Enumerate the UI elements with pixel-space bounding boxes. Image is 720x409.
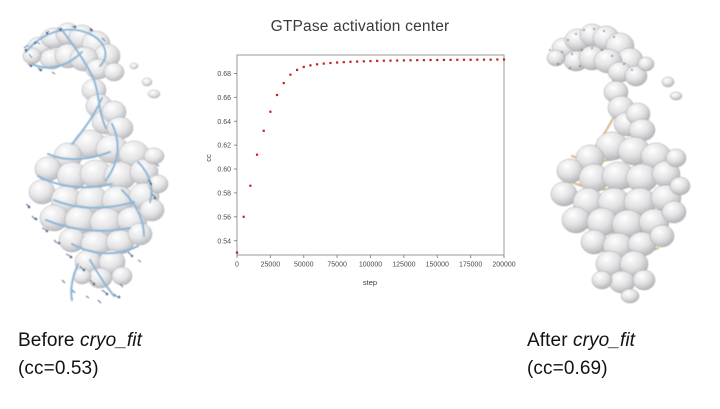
data-point: [383, 60, 385, 62]
data-point: [303, 66, 305, 68]
data-point: [349, 61, 351, 63]
data-point: [470, 59, 472, 61]
caption-before-cc: (cc=0.53): [18, 355, 142, 383]
data-point: [329, 62, 331, 64]
y-tick-label: 0.56: [217, 214, 231, 221]
caption-before-text: Before: [18, 330, 80, 351]
data-point: [249, 185, 251, 187]
caption-after-cc: (cc=0.69): [527, 355, 635, 383]
data-point: [416, 59, 418, 61]
data-point: [236, 252, 238, 254]
data-point: [256, 154, 258, 156]
x-axis-ticks: 0250005000075000100000125000150000175000…: [235, 255, 516, 269]
data-point: [443, 59, 445, 61]
data-point: [289, 74, 291, 76]
data-point: [316, 63, 318, 65]
y-tick-label: 0.60: [217, 167, 231, 174]
data-point: [483, 59, 485, 61]
cryo-em-density-after-svg: [520, 4, 720, 316]
x-tick-label: 75000: [327, 262, 347, 269]
caption-after-emphasis: cryo_fit: [573, 330, 635, 351]
x-tick-label: 175000: [459, 262, 482, 269]
data-point: [423, 59, 425, 61]
structure-image-before: [2, 4, 202, 316]
y-tick-label: 0.62: [217, 143, 231, 150]
data-point: [496, 58, 498, 60]
y-tick-label: 0.58: [217, 191, 231, 198]
caption-before: Before cryo_fit (cc=0.53): [18, 327, 142, 383]
density-blobs-before: [23, 23, 168, 303]
x-tick-label: 50000: [294, 262, 314, 269]
data-point: [363, 60, 365, 62]
data-point: [409, 59, 411, 61]
data-point: [403, 59, 405, 61]
data-point: [376, 60, 378, 62]
data-point: [456, 59, 458, 61]
caption-after: After cryo_fit (cc=0.69): [527, 327, 635, 383]
data-point: [243, 216, 245, 218]
data-point: [343, 61, 345, 63]
cryo-em-density-before-svg: [2, 4, 202, 316]
data-point: [503, 58, 505, 60]
structure-image-after: [520, 4, 720, 316]
data-point: [296, 69, 298, 71]
data-point: [396, 59, 398, 61]
plot-frame: [237, 55, 504, 255]
chart-plot-area: 0.540.560.580.600.620.640.660.68 0250005…: [200, 0, 520, 305]
y-tick-label: 0.66: [217, 95, 231, 102]
data-point: [309, 64, 311, 66]
y-tick-label: 0.54: [217, 238, 231, 245]
x-tick-label: 125000: [392, 262, 415, 269]
data-point: [476, 59, 478, 61]
data-point: [369, 60, 371, 62]
x-tick-label: 25000: [261, 262, 281, 269]
data-point: [323, 62, 325, 64]
caption-after-text: After: [527, 330, 573, 351]
caption-before-emphasis: cryo_fit: [80, 330, 142, 351]
data-point: [276, 94, 278, 96]
data-point: [389, 60, 391, 62]
cc-vs-step-chart: GTPase activation center 0.540.560.580.6…: [200, 0, 520, 305]
data-point: [263, 130, 265, 132]
y-tick-label: 0.68: [217, 71, 231, 78]
x-tick-label: 200000: [492, 262, 515, 269]
data-point: [336, 61, 338, 63]
data-point: [429, 59, 431, 61]
data-point: [283, 82, 285, 84]
x-tick-label: 0: [235, 262, 239, 269]
data-point: [356, 60, 358, 62]
y-tick-label: 0.64: [217, 119, 231, 126]
x-tick-label: 150000: [426, 262, 449, 269]
data-point: [490, 59, 492, 61]
x-tick-label: 100000: [359, 262, 382, 269]
y-axis-ticks: 0.540.560.580.600.620.640.660.68: [217, 71, 237, 245]
data-point: [269, 111, 271, 113]
x-axis-label: step: [363, 278, 377, 287]
data-point: [450, 59, 452, 61]
data-point: [463, 59, 465, 61]
data-point: [436, 59, 438, 61]
density-blobs-after: [547, 24, 690, 303]
y-axis-label: cc: [204, 154, 213, 162]
